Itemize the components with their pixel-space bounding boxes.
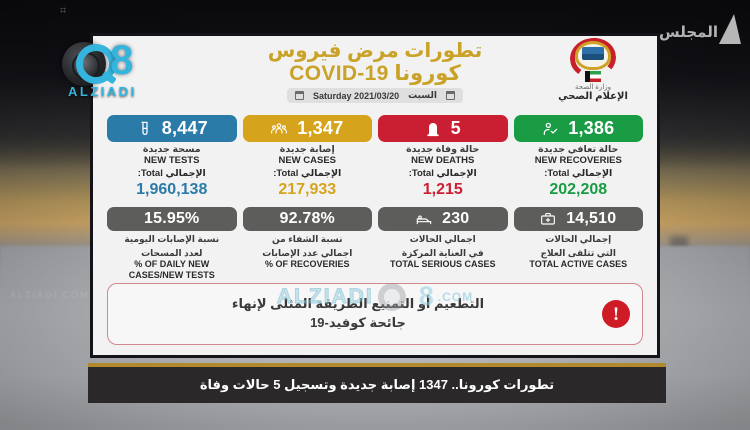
- stat-label-ar-2: التي تتلقى العلاج: [514, 248, 644, 259]
- card-header: تطورات مرض فيروس كورونا COVID-19 Saturda…: [93, 36, 657, 114]
- stat-pill: 92.78%: [243, 207, 373, 231]
- stat-card-daily-positivity: 15.95% نسبة الإصابات اليومية لعدد المسحا…: [107, 207, 237, 280]
- ministry-department: الإعلام الصحي: [539, 91, 647, 102]
- stat-pill: 8,447: [107, 115, 237, 142]
- advisory-text: التطعيم أو التمنيع الطريقة المثلى لإنهاء…: [120, 295, 602, 333]
- stat-pill: 230: [378, 207, 508, 231]
- stat-total-label: الإجمالي Total:: [514, 169, 644, 180]
- stat-value: 92.78%: [280, 210, 335, 228]
- stat-label-ar-1: اجمالي الحالات: [378, 234, 508, 245]
- date-bar: Saturday 2021/03/20 السبت: [287, 88, 463, 103]
- stat-label-en: NEW CASES: [243, 156, 373, 167]
- medical-bag-icon: [540, 211, 556, 227]
- covid-infographic-card: تطورات مرض فيروس كورونا COVID-19 Saturda…: [90, 33, 660, 358]
- stat-label-en: NEW DEATHS: [378, 156, 508, 167]
- stat-total-label: الإجمالي Total:: [107, 169, 237, 180]
- stat-pill: 5: [378, 115, 508, 142]
- stat-value: 1,386: [568, 118, 614, 139]
- alziadi-corner-logo: 8 ALZIADI: [62, 38, 158, 100]
- stat-card-recovery-rate: 92.78% نسبة الشفاء من اجمالي عدد الإصابا…: [243, 207, 373, 280]
- stat-total-value: 202,208: [514, 181, 644, 199]
- stat-label-ar-2: اجمالي عدد الإصابات: [243, 248, 373, 259]
- stat-total-value: 217,933: [243, 181, 373, 199]
- stat-label-en: NEW RECOVERIES: [514, 156, 644, 167]
- advisory-line-2: جائحة كوفيد-19: [120, 314, 596, 333]
- stat-label-ar-1: نسبة الشفاء من: [243, 234, 373, 245]
- stat-pill: 1,386: [514, 115, 644, 142]
- vaccination-advisory-callout: التطعيم أو التمنيع الطريقة المثلى لإنهاء…: [107, 283, 643, 345]
- station-corner-bug: ⌗: [60, 5, 67, 18]
- alert-exclamation-icon: !: [602, 300, 630, 328]
- date-arabic: السبت: [408, 90, 437, 101]
- stat-card-active-cases: 14,510 إجمالي الحالات التي تتلقى العلاج …: [514, 207, 644, 280]
- stat-label-en-1: % OF DAILY NEW: [107, 259, 237, 270]
- stat-label-en-1: TOTAL ACTIVE CASES: [514, 259, 644, 270]
- calendar-icon: [295, 91, 304, 100]
- person-check-icon: [542, 121, 558, 137]
- test-tube-icon: [136, 121, 152, 137]
- stat-card-new-deaths: 5 حالة وفاة جديدة NEW DEATHS الإجمالي To…: [378, 115, 508, 198]
- advisory-line-1: التطعيم أو التمنيع الطريقة المثلى لإنهاء: [120, 295, 596, 314]
- stat-total-label: الإجمالي Total:: [378, 169, 508, 180]
- stat-total-value: 1,960,138: [107, 181, 237, 199]
- stat-value: 5: [451, 118, 461, 139]
- title-line-1: تطورات مرض فيروس: [210, 41, 540, 62]
- stat-total-label: الإجمالي Total:: [243, 169, 373, 180]
- news-ticker-text: تطورات كورونا.. 1347 إصابة جديدة وتسجيل …: [200, 377, 554, 393]
- stat-card-serious-cases: 230 اجمالي الحالات في العناية المركزة TO…: [378, 207, 508, 280]
- stat-label-ar-1: إجمالي الحالات: [514, 234, 644, 245]
- title-block: تطورات مرض فيروس كورونا COVID-19 Saturda…: [210, 41, 540, 105]
- stat-label-en: NEW TESTS: [107, 156, 237, 167]
- secondary-stats-row: 15.95% نسبة الإصابات اليومية لعدد المسحا…: [93, 207, 657, 280]
- stat-label-en-1: TOTAL SERIOUS CASES: [378, 259, 508, 270]
- stat-pill: 1,347: [243, 115, 373, 142]
- news-ticker: تطورات كورونا.. 1347 إصابة جديدة وتسجيل …: [88, 363, 666, 403]
- stat-value: 14,510: [566, 210, 616, 228]
- broadcast-frame: ALZIADI.COM ⌗ المجلس تطورات مرض فيروس كو…: [0, 0, 750, 430]
- channel-watermark: المجلس: [659, 14, 742, 44]
- stat-pill: 15.95%: [107, 207, 237, 231]
- stat-pill: 14,510: [514, 207, 644, 231]
- stat-card-new-recoveries: 1,386 حالة تعافي جديدة NEW RECOVERIES ال…: [514, 115, 644, 198]
- calendar-icon: [446, 91, 455, 100]
- hospital-bed-icon: [416, 211, 432, 227]
- people-group-icon: [271, 121, 287, 137]
- logo-name: ALZIADI: [68, 84, 137, 99]
- stat-value: 230: [442, 210, 469, 228]
- channel-watermark-label: المجلس: [659, 25, 718, 44]
- stat-value: 1,347: [297, 118, 343, 139]
- stat-card-new-tests: 8,447 مسحة جديدة NEW TESTS الإجمالي Tota…: [107, 115, 237, 198]
- stat-value: 15.95%: [144, 210, 199, 228]
- logo-digit: 8: [110, 39, 133, 81]
- stat-label-ar-1: نسبة الإصابات اليومية: [107, 234, 237, 245]
- ministry-of-health-logo: وزارة الصحة الإعلام الصحي: [539, 38, 647, 102]
- main-stats-row: 8,447 مسحة جديدة NEW TESTS الإجمالي Tota…: [93, 115, 657, 198]
- date-english: Saturday 2021/03/20: [313, 91, 399, 101]
- stat-label-en-1: % OF RECOVERIES: [243, 259, 373, 270]
- title-line-2: كورونا COVID-19: [210, 62, 540, 85]
- stat-label-ar-2: في العناية المركزة: [378, 248, 508, 259]
- channel-watermark-icon: [719, 14, 743, 44]
- stat-value: 8,447: [162, 118, 208, 139]
- stat-label-en-2: CASES/NEW TESTS: [107, 270, 237, 281]
- stat-total-value: 1,215: [378, 181, 508, 199]
- ministry-name: وزارة الصحة: [539, 83, 647, 91]
- background-watermark: ALZIADI.COM: [10, 290, 90, 300]
- stat-card-new-cases: 1,347 إصابة جديدة NEW CASES الإجمالي Tot…: [243, 115, 373, 198]
- kuwait-ministry-of-health-emblem-icon: [568, 38, 618, 82]
- tombstone-icon: [425, 121, 441, 137]
- stat-label-ar-2: لعدد المسحات: [107, 248, 237, 259]
